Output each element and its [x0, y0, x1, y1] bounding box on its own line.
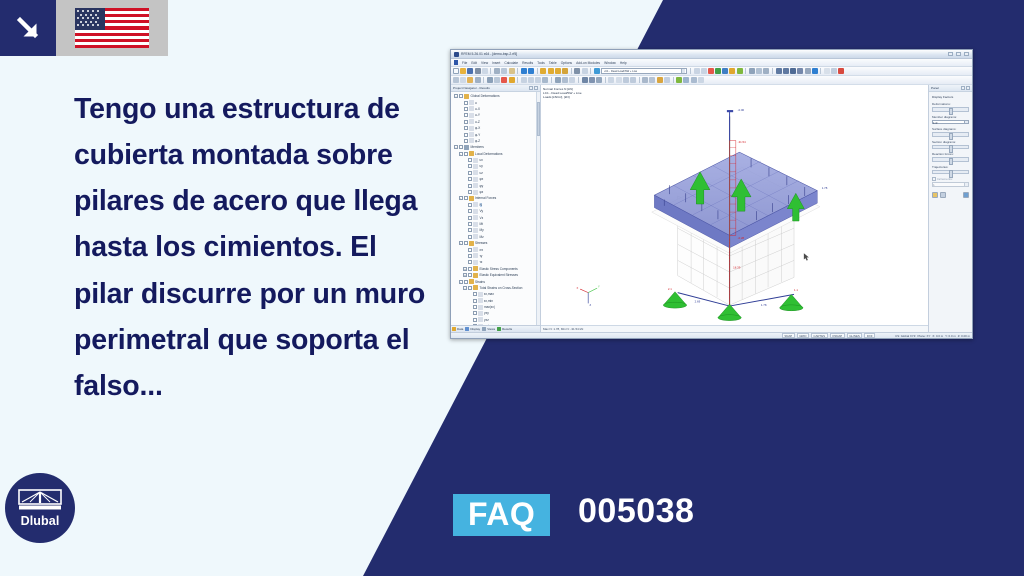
navigator-tree-item-label: φ-Z [475, 139, 480, 143]
navigator-tree-item-label: τz [480, 260, 483, 264]
tree-checkbox[interactable] [473, 324, 477, 325]
collapse-icon[interactable]: - [454, 94, 458, 98]
folder-icon [469, 196, 474, 201]
value-label: 18.39 [733, 265, 741, 269]
deformations-slider[interactable] [932, 107, 969, 112]
table-icon[interactable] [608, 77, 614, 83]
window-titlebar[interactable]: RFEM 5.26.01 x64 - [demo-bsp-2.rf5] [451, 50, 972, 59]
panel-info-icon[interactable] [963, 192, 969, 198]
result-icon [469, 106, 474, 111]
copy-icon[interactable] [501, 68, 507, 74]
tree-checkbox[interactable] [468, 286, 472, 290]
result-icon [473, 253, 478, 258]
open-file-icon[interactable] [460, 68, 466, 74]
visibility-icon[interactable] [569, 77, 575, 83]
status-bar[interactable]: SNAP GRID CARTES OSNAP GLINES DXF CS: Gl… [451, 332, 972, 338]
print-icon[interactable] [475, 68, 481, 74]
dimension-icon[interactable] [831, 68, 837, 74]
navigator-tabs[interactable]: Data Display Views Results [451, 325, 540, 332]
folder-icon [469, 241, 474, 246]
navigator-tab-display[interactable]: Display [465, 327, 480, 331]
tree-checkbox[interactable] [464, 101, 468, 105]
navigator-tree-item-label: εx,min [484, 299, 493, 303]
toolbar-separator [690, 68, 691, 74]
tree-checkbox[interactable] [464, 152, 468, 156]
tree-checkbox[interactable] [468, 177, 472, 181]
expand-icon[interactable]: + [463, 273, 467, 277]
truss-bridge-icon [18, 489, 62, 513]
menu-addon-modules[interactable]: Add-on Modules [576, 61, 600, 65]
panel-buttons[interactable] [932, 192, 969, 198]
tree-spacer [463, 171, 467, 175]
tree-spacer [463, 184, 467, 188]
folder-icon [473, 266, 478, 271]
tree-checkbox[interactable] [464, 107, 468, 111]
rfem-application-window[interactable]: RFEM 5.26.01 x64 - [demo-bsp-2.rf5] File… [450, 49, 973, 339]
viewport-status: Max N: 1.78, Min N: -31.54 kN [541, 325, 928, 332]
result-icon [473, 202, 478, 207]
units-icon[interactable] [649, 77, 655, 83]
increments-value[interactable]: 1 [932, 182, 965, 187]
checkbox-icon[interactable] [932, 177, 936, 181]
nodes-result-icon[interactable] [596, 77, 602, 83]
navigator-tree[interactable]: -Global Deformationsuu-Xu-Yu-Zφ-Xφ-Yφ-Z-… [451, 92, 540, 325]
window-title: RFEM 5.26.01 x64 - [demo-bsp-2.rf5] [461, 52, 948, 56]
tree-checkbox[interactable] [468, 158, 472, 162]
tree-checkbox[interactable] [468, 228, 472, 232]
prev-lc-icon[interactable] [694, 68, 700, 74]
toolbar-separator [639, 77, 640, 83]
chevron-down-icon[interactable] [681, 69, 685, 74]
tree-checkbox[interactable] [468, 203, 472, 207]
navigator-tree-item-label: φz [480, 190, 484, 194]
dlubal-wordmark: Dlubal [21, 514, 60, 528]
load-case-icon[interactable] [509, 77, 515, 83]
navigator-tree-item-label: u [475, 101, 477, 105]
structure-3d-model[interactable]: -0.00 -31.54 -0.28 18.39 1.78 2.69 1.78 … [541, 85, 928, 332]
tree-checkbox[interactable] [468, 209, 472, 213]
navigator-tree-item-label: Stresses [475, 241, 487, 245]
support-icon[interactable] [676, 77, 682, 83]
navigator-tree-item-label: εx,max [484, 292, 494, 296]
tree-checkbox[interactable] [473, 311, 477, 315]
navigator-tab-label: Display [470, 327, 480, 331]
status-cs: CS: Global XYZ [895, 334, 915, 338]
navigator-header: Project Navigator - Results [451, 85, 540, 92]
result-icon [469, 138, 474, 143]
delete-icon[interactable] [838, 68, 844, 74]
toolbar-separator [673, 77, 674, 83]
hinge-icon[interactable] [683, 77, 689, 83]
tree-spacer [463, 216, 467, 220]
result-icon [478, 317, 483, 322]
panel-pin-button[interactable] [961, 86, 965, 90]
toolbar-separator [745, 68, 746, 74]
status-grid[interactable]: GRID [797, 333, 809, 338]
toolbar-separator [490, 68, 491, 74]
layer-icon[interactable] [494, 77, 500, 83]
header-badges [0, 0, 200, 56]
panel-label-member-diagrams: Member diagrams: [932, 115, 969, 119]
member-icon[interactable] [790, 68, 796, 74]
view-iso-icon[interactable] [542, 77, 548, 83]
panel-body[interactable]: Display Factors Deformations: Member dia… [929, 92, 972, 332]
result-icon [469, 113, 474, 118]
results-tab-icon [497, 327, 501, 331]
reaction-forces-slider[interactable] [932, 157, 969, 162]
tree-checkbox[interactable] [468, 184, 472, 188]
result-icon [473, 190, 478, 195]
status-osnap[interactable]: OSNAP [830, 333, 845, 338]
save-icon[interactable] [467, 68, 473, 74]
menu-edit[interactable]: Edit [471, 61, 477, 65]
result-icon [478, 292, 483, 297]
nodal-support [780, 294, 803, 310]
snap-icon[interactable] [475, 77, 481, 83]
stiffness-icon[interactable] [691, 77, 697, 83]
tree-checkbox[interactable] [468, 260, 472, 264]
load-icon[interactable] [501, 77, 507, 83]
axis-label-z: Z [590, 303, 592, 307]
result-icon [469, 126, 474, 131]
result-icon [478, 305, 483, 310]
measure-icon[interactable] [467, 77, 473, 83]
solid-icon[interactable] [805, 68, 811, 74]
navigator-tree-item-label: Elastic Stress Components [480, 267, 518, 271]
navigator-tab-label: Data [457, 327, 463, 331]
zoom-window-icon[interactable] [548, 68, 554, 74]
settings-icon[interactable] [642, 77, 648, 83]
value-label: -0.00 [738, 108, 745, 112]
toolbar-separator [483, 77, 484, 83]
shear-force-icon[interactable] [722, 68, 728, 74]
toolbar-separator [578, 77, 579, 83]
section-diagrams-slider[interactable] [932, 145, 969, 150]
zoom-in-icon[interactable] [555, 68, 561, 74]
navigator-tab-results[interactable]: Results [497, 327, 512, 331]
tree-spacer [463, 260, 467, 264]
navigator-tree-item-label: Local Deformations [475, 152, 502, 156]
tree-spacer [459, 113, 463, 117]
normal-force-icon[interactable] [715, 68, 721, 74]
collapse-icon[interactable]: - [459, 280, 463, 284]
import-icon[interactable] [630, 77, 636, 83]
cut-icon[interactable] [494, 68, 500, 74]
help-icon[interactable] [812, 68, 818, 74]
smooth-icon[interactable] [763, 68, 769, 74]
toolbar-separator [590, 68, 591, 74]
preview-icon[interactable] [482, 68, 488, 74]
window-controls[interactable] [948, 52, 969, 56]
tree-checkbox[interactable] [464, 196, 468, 200]
toolbar-primary[interactable]: LC1 - Dead Load/SW + Live [451, 67, 972, 76]
panel-close-button[interactable] [966, 86, 970, 90]
render-icon[interactable] [574, 68, 580, 74]
result-icon [478, 324, 483, 325]
tree-checkbox[interactable] [464, 113, 468, 117]
viewport-status-text: Max N: 1.78, Min N: -31.54 kN [543, 327, 583, 331]
redo-icon[interactable] [528, 68, 534, 74]
result-icon [473, 209, 478, 214]
view-side-icon[interactable] [535, 77, 541, 83]
isobands-icon[interactable] [756, 68, 762, 74]
navigator-tree-item-label: Global Deformations [471, 94, 500, 98]
toolbar-separator [772, 68, 773, 74]
pan-icon[interactable] [460, 77, 466, 83]
member-diagram-value[interactable]: 1.0 [932, 120, 965, 125]
more-tools-icon[interactable] [698, 77, 704, 83]
tree-checkbox[interactable] [468, 190, 472, 194]
navigator-tree-item-label: Strains [475, 280, 485, 284]
toolbar-separator [571, 68, 572, 74]
navigator-tree-item-label: Vz [480, 216, 484, 220]
tree-checkbox[interactable] [464, 139, 468, 143]
tree-checkbox[interactable] [468, 248, 472, 252]
navigator-tree-item-label: φ-X [475, 126, 480, 130]
tree-spacer [463, 248, 467, 252]
value-label: 1.1 [794, 288, 798, 292]
tree-checkbox[interactable] [473, 305, 477, 309]
tree-checkbox[interactable] [468, 222, 472, 226]
surface-icon[interactable] [797, 68, 803, 74]
status-cartes[interactable]: CARTES [811, 333, 828, 338]
collapse-icon[interactable]: - [463, 286, 467, 290]
member-diagram-stepper[interactable] [965, 120, 969, 125]
result-icon [478, 311, 483, 316]
menu-bar[interactable]: File Edit View Insert Calculate Results … [451, 59, 972, 67]
status-x: X: 0.0 m [932, 334, 943, 338]
section-icon[interactable] [555, 77, 561, 83]
material-icon[interactable] [657, 77, 663, 83]
navigator-tree-item-label: max|εx| [484, 305, 495, 309]
tree-checkbox[interactable] [464, 241, 468, 245]
arrow-down-right-icon [0, 0, 56, 56]
increments-spinner[interactable]: 1 [932, 182, 969, 187]
increments-label: Increments: [937, 177, 953, 181]
comment-icon[interactable] [824, 68, 830, 74]
axis-label-y: Y [598, 284, 600, 288]
display-icon[interactable] [582, 68, 588, 74]
navigator-tab-data[interactable]: Data [452, 327, 463, 331]
rotate-icon[interactable] [562, 68, 568, 74]
fe-mesh-icon[interactable] [589, 77, 595, 83]
tree-spacer [463, 235, 467, 239]
tree-spacer [459, 101, 463, 105]
navigator-tree-item[interactable]: εx,t [452, 323, 540, 325]
printout-icon[interactable] [616, 77, 622, 83]
status-y: Y: 0.0 m [945, 334, 956, 338]
app-icon [454, 52, 459, 57]
menu-grip-icon [454, 60, 458, 65]
navigator-tree-item-label: u-Z [475, 120, 480, 124]
navigator-tree-item-label: φy [480, 184, 484, 188]
moment-icon[interactable] [729, 68, 735, 74]
scrollbar-thumb[interactable] [537, 102, 540, 136]
toolbar-secondary[interactable] [451, 76, 972, 85]
navigator-tree-item-label: My [480, 228, 484, 232]
menu-results[interactable]: Results [522, 61, 533, 65]
tree-checkbox[interactable] [468, 235, 472, 239]
result-icon [473, 247, 478, 252]
section-lib-icon[interactable] [664, 77, 670, 83]
tree-spacer [459, 120, 463, 124]
status-z: Z: 0.00 m [958, 334, 970, 338]
tree-checkbox[interactable] [468, 164, 472, 168]
us-flag-icon [56, 0, 168, 56]
tree-checkbox[interactable] [459, 94, 463, 98]
increments-checkbox-row[interactable]: Increments: [932, 177, 969, 181]
new-file-icon[interactable] [453, 68, 459, 74]
surface-diagrams-slider[interactable] [932, 132, 969, 137]
navigator-title: Project Navigator - Results [453, 86, 490, 90]
value-label: 1.78 [822, 186, 828, 190]
model-viewport[interactable]: Normal Forces N [kN] LC1 - Dead Load/SW … [541, 85, 928, 332]
collapse-icon[interactable]: - [459, 241, 463, 245]
export-icon[interactable] [623, 77, 629, 83]
navigator-tree-item-label: uy [480, 164, 483, 168]
status-snap[interactable]: SNAP [782, 333, 795, 338]
navigator-tree-item-label: τy [480, 254, 483, 258]
tree-checkbox[interactable] [473, 318, 477, 322]
value-label: 2.1 [668, 287, 672, 291]
tree-checkbox[interactable] [468, 254, 472, 258]
line-icon[interactable] [783, 68, 789, 74]
close-button[interactable] [964, 52, 969, 56]
zoom-all-icon[interactable] [540, 68, 546, 74]
status-plane: Plane: XY [918, 334, 931, 338]
display-tab-icon [465, 327, 469, 331]
panel-label-surface-diagrams: Surface diagrams: [932, 127, 969, 131]
tree-checkbox[interactable] [464, 120, 468, 124]
folder-icon [473, 273, 478, 278]
load-case-value: LC1 - Dead Load/SW + Live [604, 70, 681, 73]
collapse-icon[interactable]: - [454, 145, 458, 149]
axis-label-x: X [577, 286, 579, 290]
tree-checkbox[interactable] [464, 280, 468, 284]
deformation-icon[interactable] [708, 68, 714, 74]
results-panel[interactable]: Panel Display Factors Deformations: Memb… [928, 85, 972, 332]
navigator-tree-item-label: σx [480, 248, 484, 252]
node-icon[interactable] [776, 68, 782, 74]
tree-checkbox[interactable] [459, 145, 463, 149]
edit-colors-icon[interactable] [932, 192, 938, 198]
result-values-icon[interactable] [749, 68, 755, 74]
window-body: Project Navigator - Results -Global Defo… [451, 85, 972, 332]
tree-checkbox[interactable] [468, 273, 472, 277]
menu-window[interactable]: Window [604, 61, 616, 65]
result-icon [473, 170, 478, 175]
member-icon [464, 145, 469, 150]
status-dxf[interactable]: DXF [864, 333, 875, 338]
tree-spacer [468, 299, 472, 303]
top-stub-member [727, 110, 733, 140]
navigator-tree-item-label: ux [480, 158, 483, 162]
support-force-icon[interactable] [737, 68, 743, 74]
increments-stepper[interactable] [965, 182, 969, 187]
grid-icon[interactable] [487, 77, 493, 83]
tree-spacer [468, 305, 472, 309]
tree-spacer [468, 292, 472, 296]
toolbar-separator [605, 77, 606, 83]
tree-checkbox[interactable] [468, 171, 472, 175]
nodal-support [718, 304, 741, 320]
navigator-tree-item-label: φ-Y [475, 133, 480, 137]
panel-label-section-diagrams: Section diagrams: [932, 140, 969, 144]
navigator-pin-button[interactable] [529, 86, 533, 90]
tree-spacer [468, 324, 472, 325]
tree-checkbox[interactable] [473, 299, 477, 303]
member-diagram-spinner[interactable]: 1.0 [932, 120, 969, 125]
result-icon [473, 260, 478, 265]
trajectories-slider[interactable] [932, 170, 969, 175]
tree-spacer [463, 254, 467, 258]
toolbar-separator [820, 68, 821, 74]
tree-spacer [463, 190, 467, 194]
menu-insert[interactable]: Insert [492, 61, 500, 65]
menu-calculate[interactable]: Calculate [504, 61, 518, 65]
collapse-icon[interactable]: - [459, 196, 463, 200]
next-lc-icon[interactable] [701, 68, 707, 74]
collapse-icon[interactable]: - [459, 152, 463, 156]
paste-icon[interactable] [509, 68, 515, 74]
navigator-tree-item-label: φx [480, 177, 484, 181]
menu-tools[interactable]: Tools [537, 61, 545, 65]
result-icon [469, 100, 474, 105]
tree-spacer [459, 133, 463, 137]
navigator-scrollbar[interactable] [536, 92, 540, 325]
navigator-tree-item-label: Elastic Equivalent Stresses [480, 273, 518, 277]
navigator-tab-views[interactable]: Views [482, 327, 495, 331]
value-table-icon[interactable] [940, 192, 946, 198]
navigator-tree-item-label: u-X [475, 107, 480, 111]
mesh-icon[interactable] [582, 77, 588, 83]
menu-help[interactable]: Help [620, 61, 627, 65]
undo-icon[interactable] [521, 68, 527, 74]
result-icon [473, 234, 478, 239]
tree-checkbox[interactable] [464, 126, 468, 130]
view-top-icon[interactable] [528, 77, 534, 83]
select-icon[interactable] [453, 77, 459, 83]
navigator-tree-item-label: Total Strains on Cross-Section [480, 286, 523, 290]
expand-icon[interactable]: + [463, 267, 467, 271]
tree-checkbox[interactable] [473, 292, 477, 296]
tree-checkbox[interactable] [468, 216, 472, 220]
navigator-tree-item-label: Mz [480, 235, 484, 239]
calculate-icon[interactable] [594, 68, 600, 74]
project-navigator[interactable]: Project Navigator - Results -Global Defo… [451, 85, 541, 332]
menu-view[interactable]: View [481, 61, 488, 65]
tree-spacer [463, 222, 467, 226]
value-label: 1.78 [761, 303, 767, 307]
menu-table[interactable]: Table [549, 61, 557, 65]
tree-spacer [463, 209, 467, 213]
dlubal-logo: Dlubal [5, 473, 75, 543]
navigator-close-button[interactable] [534, 86, 538, 90]
clipping-icon[interactable] [562, 77, 568, 83]
status-glines[interactable]: GLINES [847, 333, 863, 338]
navigator-tree-item-label: uz [480, 171, 483, 175]
tree-checkbox[interactable] [464, 133, 468, 137]
minimize-button[interactable] [948, 52, 953, 56]
navigator-tree-item-label: γxz [484, 318, 489, 322]
menu-file[interactable]: File [462, 61, 467, 65]
maximize-button[interactable] [956, 52, 961, 56]
tree-checkbox[interactable] [468, 267, 472, 271]
view-front-icon[interactable] [521, 77, 527, 83]
load-case-combo[interactable]: LC1 - Dead Load/SW + Live [601, 68, 687, 74]
menu-options[interactable]: Options [561, 61, 572, 65]
tree-spacer [459, 126, 463, 130]
